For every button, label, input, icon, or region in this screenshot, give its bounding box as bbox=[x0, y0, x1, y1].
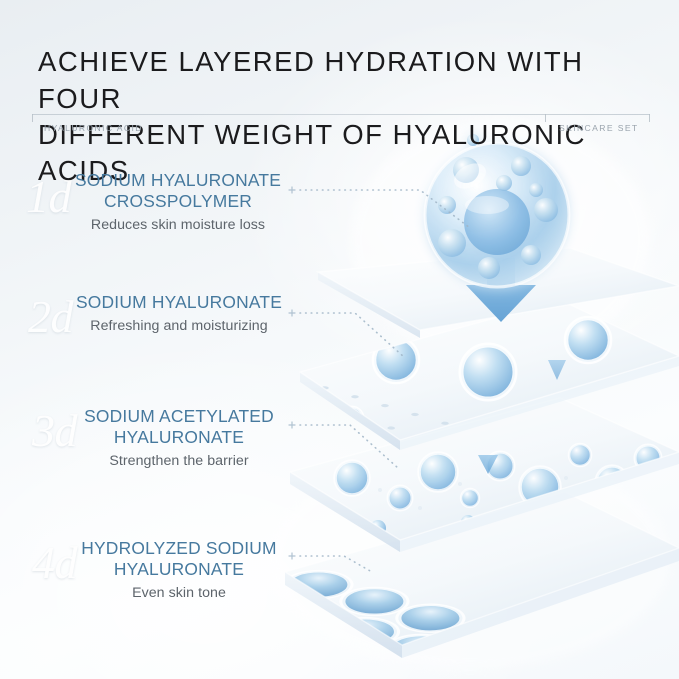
ingredient-body-1: SODIUM HYALURONATE CROSSPOLYMER Reduces … bbox=[60, 170, 296, 235]
flow-arrow-main bbox=[466, 258, 536, 322]
ingredient-title-4: HYDROLYZED SODIUM HYALURONATE bbox=[56, 538, 302, 580]
ingredient-title-2: SODIUM HYALURONATE bbox=[58, 292, 300, 313]
ingredient-item-4: 4d HYDROLYZED SODIUM HYALURONATE Even sk… bbox=[26, 538, 302, 603]
connector-lines bbox=[300, 190, 470, 572]
ingredient-item-2: 2d SODIUM HYALURONATE Refreshing and moi… bbox=[26, 292, 300, 336]
rule-tick-middle bbox=[545, 114, 546, 122]
ingredient-description-1: Reduces skin moisture loss bbox=[60, 217, 296, 235]
ingredient-body-4: HYDROLYZED SODIUM HYALURONATE Even skin … bbox=[56, 538, 302, 603]
ingredient-title-3: SODIUM ACETYLATED HYALURONATE bbox=[56, 406, 302, 448]
connector-4 bbox=[300, 556, 372, 572]
layer-textured-mid bbox=[290, 398, 679, 552]
ingredient-description-2: Refreshing and moisturizing bbox=[58, 318, 300, 336]
ingredient-title-1: SODIUM HYALURONATE CROSSPOLYMER bbox=[60, 170, 296, 212]
ingredient-item-1: 1d SODIUM HYALURONATE CROSSPOLYMER Reduc… bbox=[26, 170, 296, 235]
ingredient-item-3: 3d SODIUM ACETYLATED HYALURONATE Strengt… bbox=[26, 406, 302, 471]
ingredient-description-3: Strengthen the barrier bbox=[56, 453, 302, 471]
ingredient-body-2: SODIUM HYALURONATE Refreshing and moistu… bbox=[58, 292, 300, 336]
rule-line bbox=[32, 114, 650, 115]
section-rule-bar: HYALURONIC ACID SKINCARE SET bbox=[32, 114, 650, 142]
infographic-poster: ACHIEVE LAYERED HYDRATION WITH FOUR DIFF… bbox=[0, 0, 679, 679]
ingredient-description-4: Even skin tone bbox=[56, 585, 302, 603]
rule-tick-left bbox=[32, 114, 33, 122]
layer-top-sheet bbox=[318, 248, 679, 338]
connector-1 bbox=[300, 190, 470, 228]
rule-tick-right bbox=[649, 114, 650, 122]
ingredient-body-3: SODIUM ACETYLATED HYALURONATE Strengthen… bbox=[56, 406, 302, 471]
connector-3 bbox=[300, 425, 398, 468]
connector-2 bbox=[300, 313, 404, 357]
rule-label-hyaluronic-acid: HYALURONIC ACID bbox=[44, 123, 143, 133]
rule-label-skincare-set: SKINCARE SET bbox=[559, 123, 639, 133]
connector-sparkles bbox=[289, 187, 295, 559]
